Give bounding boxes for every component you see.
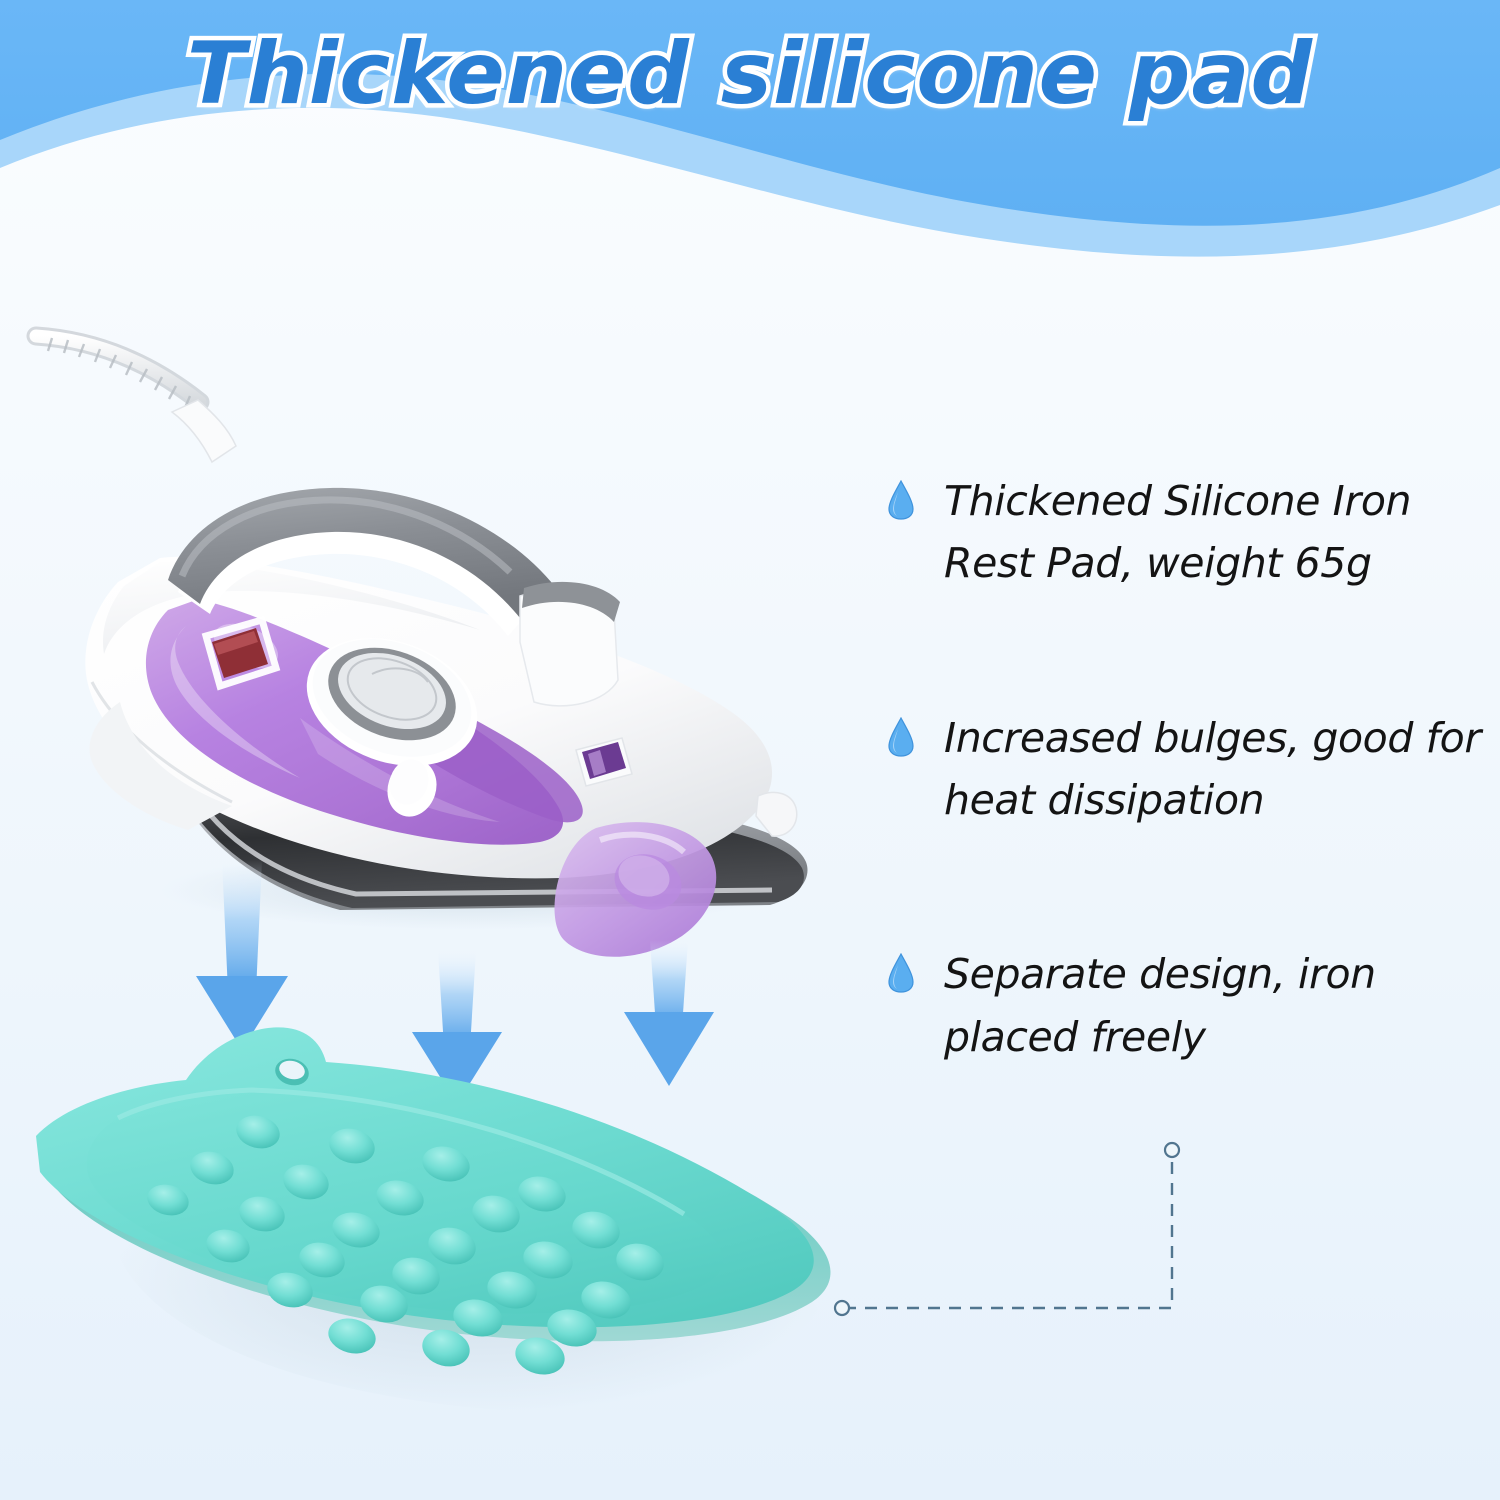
- feature-text-1: Thickened Silicone Iron Rest Pad, weight…: [944, 470, 1488, 595]
- iron-rear-knob: [756, 792, 797, 836]
- product-artwork-svg: [0, 250, 900, 1500]
- product-illustration: [0, 250, 900, 1500]
- feature-list: Thickened Silicone Iron Rest Pad, weight…: [888, 470, 1488, 1068]
- callout-endpoint-end: [1165, 1143, 1179, 1157]
- iron-drop-icon: [888, 717, 914, 757]
- infographic-canvas: Thickened silicone pad: [0, 0, 1500, 1500]
- iron-drop-icon: [888, 953, 914, 993]
- feature-item-2: Increased bulges, good for heat dissipat…: [888, 707, 1488, 832]
- callout-dashed-line: [844, 1152, 1172, 1308]
- feature-text-2: Increased bulges, good for heat dissipat…: [944, 707, 1488, 832]
- banner-wave-main: [0, 0, 1500, 226]
- feature-text-3: Separate design, iron placed freely: [944, 943, 1488, 1068]
- cord-strain-relief: [172, 400, 236, 462]
- dimension-callout-svg: [820, 1120, 1240, 1340]
- header-banner: Thickened silicone pad: [0, 0, 1500, 260]
- feature-item-3: Separate design, iron placed freely: [888, 943, 1488, 1068]
- arrow-down-3: [624, 940, 714, 1086]
- iron-drop-icon: [888, 480, 914, 520]
- banner-wave-graphic: [0, 0, 1500, 260]
- power-cord: [36, 336, 236, 462]
- dimension-callout: [820, 1120, 1240, 1340]
- callout-endpoint-start: [835, 1301, 849, 1315]
- feature-item-1: Thickened Silicone Iron Rest Pad, weight…: [888, 470, 1488, 595]
- silicone-iron-rest-pad: [36, 1027, 830, 1413]
